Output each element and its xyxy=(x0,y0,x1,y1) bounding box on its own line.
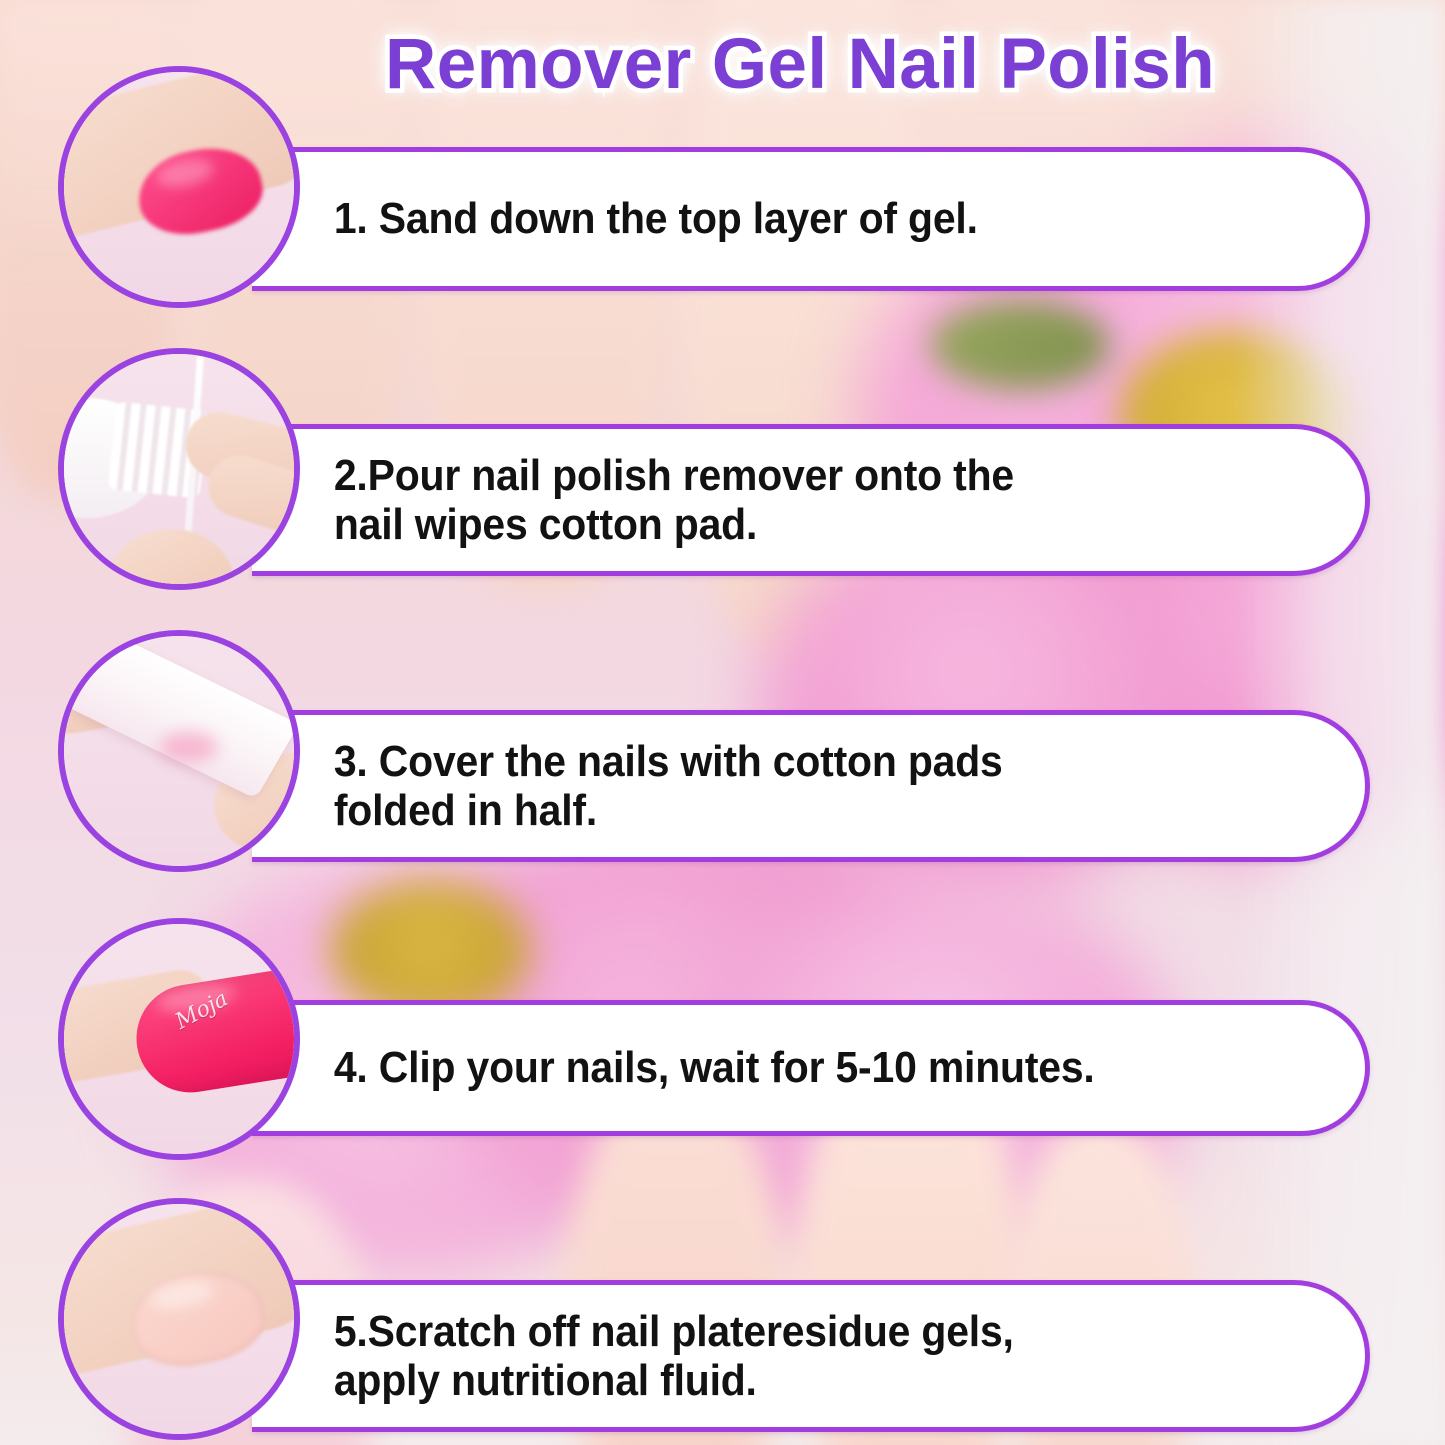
background-flower-center-2 xyxy=(330,880,530,1020)
step-line: nail wipes cotton pad. xyxy=(334,500,1014,549)
page-title: Remover Gel Nail Polish xyxy=(300,16,1300,112)
step-line: 2.Pour nail polish remover onto the xyxy=(334,451,1014,500)
step-text-4: 4. Clip your nails, wait for 5-10 minute… xyxy=(252,1043,1150,1092)
cotton-pad xyxy=(65,636,294,799)
step-image-3 xyxy=(58,630,300,872)
pink-nail-clip-cap-icon: Moja xyxy=(64,924,294,1154)
folded-cotton-pad-icon xyxy=(64,636,294,866)
step-image-1 xyxy=(58,66,300,308)
pouring-remover-bottle-icon xyxy=(64,354,294,584)
step-text-3: 3. Cover the nails with cotton pads fold… xyxy=(252,737,1058,836)
step-line: apply nutritional fluid. xyxy=(334,1356,1014,1405)
step-box-5: 5.Scratch off nail plateresidue gels, ap… xyxy=(252,1280,1370,1432)
step-box-3: 3. Cover the nails with cotton pads fold… xyxy=(252,710,1370,862)
clean-bare-nail-icon xyxy=(64,1204,294,1434)
step-image-2 xyxy=(58,348,300,590)
pad-pink-stain xyxy=(160,732,218,762)
step-text-2: 2.Pour nail polish remover onto the nail… xyxy=(252,451,1070,550)
step-image-5 xyxy=(58,1198,300,1440)
step-line: 1. Sand down the top layer of gel. xyxy=(334,194,978,243)
step-box-1: 1. Sand down the top layer of gel. xyxy=(252,147,1370,291)
step-line: folded in half. xyxy=(334,786,1003,835)
thumb xyxy=(100,523,239,584)
step-line: 3. Cover the nails with cotton pads xyxy=(334,737,1003,786)
step-line: 5.Scratch off nail plateresidue gels, xyxy=(334,1307,1014,1356)
step-image-4: Moja xyxy=(58,918,300,1160)
nail-with-pink-gel-polish-icon xyxy=(64,72,294,302)
step-text-1: 1. Sand down the top layer of gel. xyxy=(252,194,1034,243)
step-line: 4. Clip your nails, wait for 5-10 minute… xyxy=(334,1043,1095,1092)
background-leaf xyxy=(930,300,1110,390)
step-box-2: 2.Pour nail polish remover onto the nail… xyxy=(252,424,1370,576)
step-box-4: 4. Clip your nails, wait for 5-10 minute… xyxy=(252,1000,1370,1136)
infographic-canvas: 1. Sand down the top layer of gel. 2.Pou… xyxy=(0,0,1445,1445)
step-text-5: 5.Scratch off nail plateresidue gels, ap… xyxy=(252,1307,1070,1406)
